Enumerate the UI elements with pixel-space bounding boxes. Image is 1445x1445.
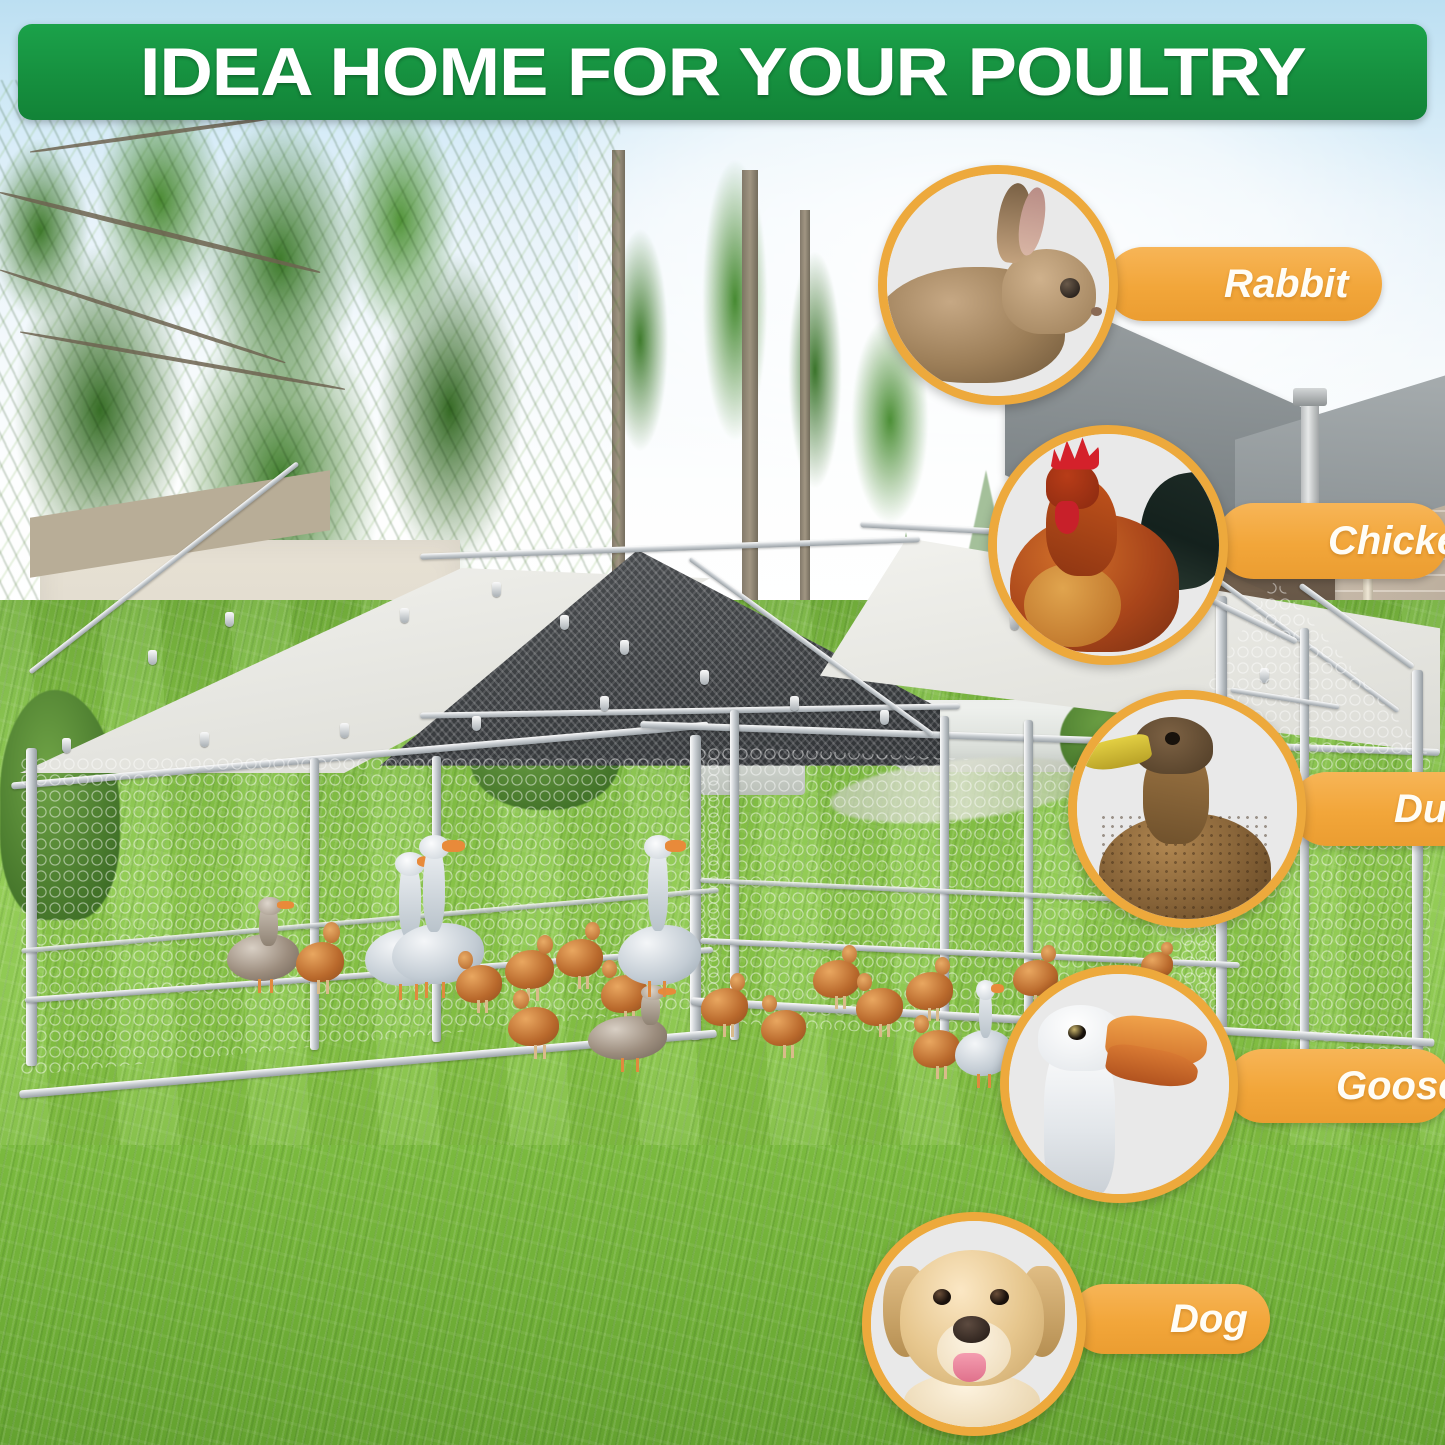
roof-clip-icon <box>700 670 709 685</box>
roof-clip-icon <box>62 738 71 753</box>
callout-pill-dog[interactable]: Dog <box>1070 1284 1270 1354</box>
callout-chicken[interactable]: Chicken <box>988 425 1445 665</box>
roof-ridge-beam <box>420 536 920 559</box>
roof-clip-icon <box>880 710 889 725</box>
goose <box>588 988 680 1066</box>
roof-clip-icon <box>790 696 799 711</box>
corner-post <box>26 748 37 1066</box>
roof-clip-icon <box>148 650 157 665</box>
chicken <box>855 968 909 1032</box>
roof-clip-icon <box>492 582 501 597</box>
duck-illustration <box>1077 699 1297 919</box>
rabbit-photo-icon <box>878 165 1118 405</box>
goose-illustration <box>1009 974 1229 1194</box>
product-marketing-image: IDEA HOME FOR YOUR POULTRY Rabbit Chicke… <box>0 0 1445 1445</box>
callout-pill-chicken[interactable]: Chicken <box>1216 503 1445 579</box>
callout-label-rabbit: Rabbit <box>1224 262 1348 307</box>
callout-pill-duck[interactable]: Duck <box>1290 772 1445 846</box>
callout-duck[interactable]: Duck <box>1068 690 1445 930</box>
rooster-illustration <box>997 434 1219 656</box>
roof-clip-icon <box>400 608 409 623</box>
duck-photo-icon <box>1068 690 1306 928</box>
roof-clip-icon <box>600 696 609 711</box>
rabbit-illustration <box>887 174 1109 396</box>
callout-label-duck: Duck <box>1394 787 1445 832</box>
callout-rabbit[interactable]: Rabbit <box>878 165 1418 405</box>
support-post <box>310 758 319 1050</box>
goose-photo-icon <box>1000 965 1238 1203</box>
chicken <box>508 985 566 1053</box>
callout-label-chicken: Chicken <box>1328 519 1445 564</box>
headline-text: IDEA HOME FOR YOUR POULTRY <box>140 38 1306 106</box>
roof-clip-icon <box>200 732 209 747</box>
roof-clip-icon <box>560 615 569 630</box>
roof-clip-icon <box>620 640 629 655</box>
headline-banner: IDEA HOME FOR YOUR POULTRY <box>18 24 1427 120</box>
roof-clip-icon <box>340 723 349 738</box>
callout-label-goose: Goose <box>1336 1064 1445 1109</box>
chicken <box>295 918 351 988</box>
callout-goose[interactable]: Goose <box>1000 965 1410 1205</box>
goose <box>618 838 712 988</box>
roof-clip-icon <box>225 612 234 627</box>
callout-label-dog: Dog <box>1170 1297 1248 1342</box>
dog-illustration <box>871 1221 1077 1427</box>
dog-photo-icon <box>862 1212 1086 1436</box>
roof-clip-icon <box>472 716 481 731</box>
chicken <box>455 945 507 1009</box>
callout-pill-rabbit[interactable]: Rabbit <box>1106 247 1382 321</box>
chicken <box>905 952 959 1016</box>
callout-pill-goose[interactable]: Goose <box>1226 1049 1445 1123</box>
chicken <box>700 968 754 1032</box>
callout-dog[interactable]: Dog <box>862 1212 1242 1437</box>
chicken <box>760 990 812 1052</box>
chicken-photo-icon <box>988 425 1228 665</box>
